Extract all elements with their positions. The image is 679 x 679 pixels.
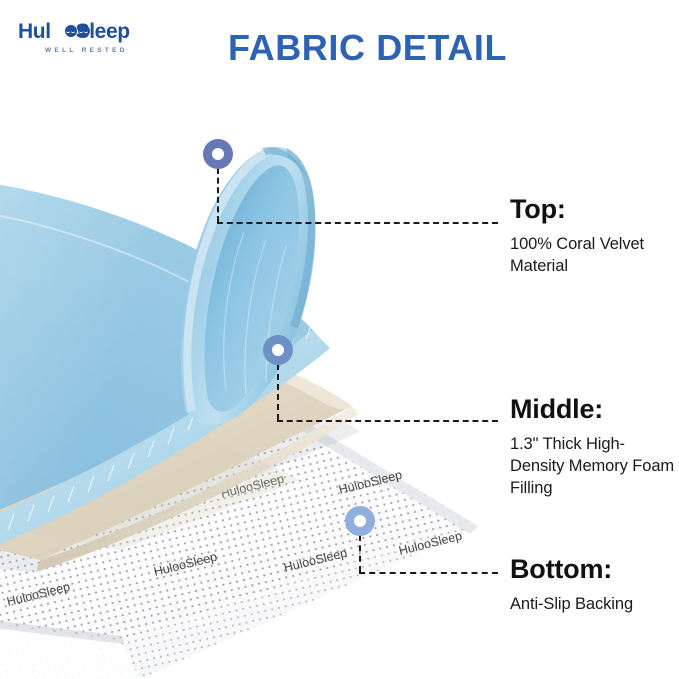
leader-line-horizontal [359,572,498,574]
callout-marker-middle [263,335,293,365]
callout-body-top: 100% Coral Velvet Material [510,233,678,277]
marker-center-icon [354,515,366,527]
leader-line-horizontal [277,420,498,422]
leader-line-vertical [359,535,361,572]
callout-title-middle: Middle: [510,393,678,425]
callout-bottom: Bottom: Anti-Slip Backing [510,553,678,615]
callout-title-top: Top: [510,193,678,225]
leader-line-vertical [277,364,279,420]
sleeping-face-icon-left [65,25,77,37]
callout-marker-top [203,139,233,169]
brand-logo: HulSleep WELL RESTED [18,20,168,60]
marker-center-icon [212,148,224,160]
callout-body-middle: 1.3" Thick High-Density Memory Foam Fill… [510,433,678,499]
callout-marker-bottom [345,506,375,536]
callout-middle: Middle: 1.3" Thick High-Density Memory F… [510,393,678,499]
infographic-canvas: HulSleep WELL RESTED FABRIC DETAIL [0,0,679,679]
marker-center-icon [272,344,284,356]
product-illustration: HulooSleep HulooSleep HulooSleep HulooSl… [0,60,520,679]
sleeping-face-icon-right [78,25,90,37]
leader-line-horizontal [217,222,498,224]
leader-line-vertical [217,168,219,222]
brand-wordmark-prefix: Hul [18,20,51,43]
brand-tagline: WELL RESTED [45,47,128,54]
callout-title-bottom: Bottom: [510,553,678,585]
callout-top: Top: 100% Coral Velvet Material [510,193,678,277]
callout-body-bottom: Anti-Slip Backing [510,593,678,615]
